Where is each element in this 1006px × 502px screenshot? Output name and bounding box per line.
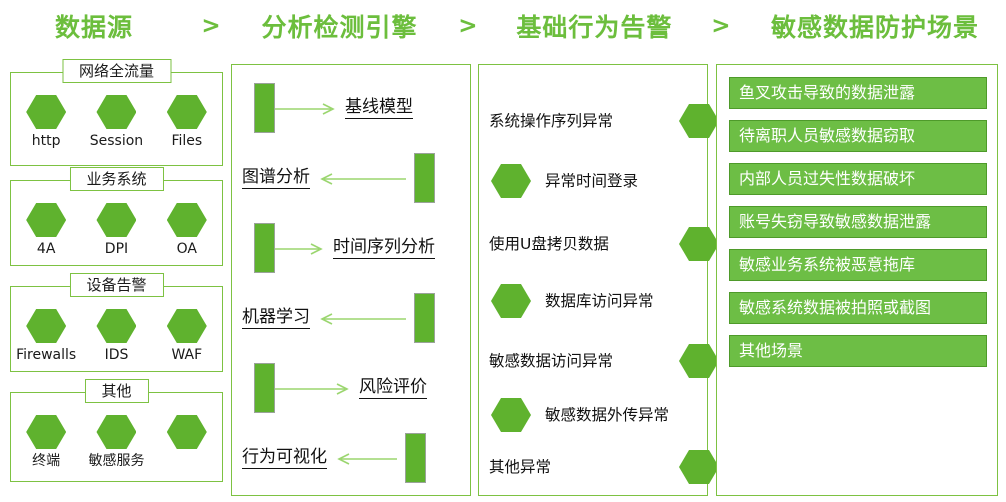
bar-icon — [254, 363, 275, 413]
arrow-right-icon — [275, 241, 327, 255]
hexagon-icon — [679, 227, 719, 261]
hexagon-icon — [491, 284, 531, 318]
scenario-button[interactable]: 内部人员过失性数据破坏 — [729, 163, 987, 195]
column-basic-alerts: 系统操作序列异常 异常时间登录 使用U盘拷贝数据 数据库访问异常 敏感数据访问异… — [478, 64, 708, 496]
alert-item-label: 数据库访问异常 — [545, 291, 654, 311]
source-item[interactable]: Firewalls — [15, 309, 77, 364]
hexagon-icon — [679, 104, 719, 138]
source-item[interactable]: IDS — [85, 309, 147, 364]
hexagon-icon — [167, 203, 207, 237]
engine-item[interactable]: 图谱分析 — [232, 147, 482, 209]
bar-icon — [414, 293, 435, 343]
bar-icon — [254, 83, 275, 133]
engine-item[interactable]: 基线模型 — [232, 77, 494, 139]
column-analysis-engine: 基线模型 图谱分析 时间序列分析 机器学习 — [231, 64, 471, 496]
source-item-list: 4A DPI OA — [11, 203, 222, 258]
source-group-title: 业务系统 — [69, 167, 163, 191]
source-item-list: Firewalls IDS WAF — [11, 309, 222, 364]
scenario-button[interactable]: 敏感业务系统被恶意拖库 — [729, 249, 987, 281]
header-title-scenarios: 敏感数据防护场景 — [744, 8, 1006, 44]
alert-item[interactable]: 系统操作序列异常 — [479, 101, 731, 141]
source-item-label: 4A — [37, 241, 55, 258]
alert-item-label: 异常时间登录 — [545, 171, 638, 191]
scenario-button[interactable]: 账号失窃导致敏感数据泄露 — [729, 206, 987, 238]
header-title-analysis-engine: 分析检测引擎 — [234, 8, 445, 44]
source-group-others[interactable]: 其他 终端 敏感服务 — [10, 392, 223, 482]
alert-item-label: 系统操作序列异常 — [489, 111, 613, 131]
header-arrow-separator-1: > — [188, 13, 234, 39]
source-item-label: http — [32, 133, 61, 150]
engine-item[interactable]: 时间序列分析 — [232, 217, 494, 279]
hexagon-icon — [491, 164, 531, 198]
scenario-list: 鱼叉攻击导致的数据泄露 待离职人员敏感数据窃取 内部人员过失性数据破坏 账号失窃… — [729, 77, 987, 378]
source-item-label: WAF — [171, 347, 202, 364]
source-item-label: Session — [90, 133, 143, 150]
hexagon-icon — [679, 450, 719, 484]
source-item[interactable]: 4A — [15, 203, 77, 258]
engine-item-label: 时间序列分析 — [333, 237, 435, 259]
column-data-sources: 网络全流量 http Session Files 业务系统 — [10, 64, 223, 496]
hexagon-icon — [96, 95, 136, 129]
source-item-label: Firewalls — [16, 347, 76, 364]
bar-icon — [405, 433, 426, 483]
column-protection-scenarios: 鱼叉攻击导致的数据泄露 待离职人员敏感数据窃取 内部人员过失性数据破坏 账号失窃… — [716, 64, 998, 496]
engine-item[interactable]: 风险评价 — [232, 357, 494, 419]
hexagon-icon — [679, 344, 719, 378]
alert-item-label: 使用U盘拷贝数据 — [489, 234, 609, 254]
engine-item[interactable]: 机器学习 — [232, 287, 482, 349]
arrow-left-icon — [335, 451, 397, 465]
header-arrow-separator-2: > — [445, 13, 491, 39]
hexagon-icon — [491, 398, 531, 432]
source-item[interactable]: 敏感服务 — [85, 415, 147, 470]
alert-item[interactable]: 使用U盘拷贝数据 — [479, 221, 731, 267]
alert-item-label: 其他异常 — [489, 457, 551, 477]
engine-item-label: 图谱分析 — [242, 167, 310, 189]
source-group-device-alerts[interactable]: 设备告警 Firewalls IDS WAF — [10, 286, 223, 372]
source-group-title: 其他 — [84, 379, 148, 403]
scenario-button[interactable]: 鱼叉攻击导致的数据泄露 — [729, 77, 987, 109]
diagram-root: 数据源 > 分析检测引擎 > 基础行为告警 > 敏感数据防护场景 网络全流量 h… — [0, 0, 1006, 502]
source-item-list: 终端 敏感服务 — [11, 415, 222, 470]
engine-item-label: 行为可视化 — [242, 447, 327, 469]
source-group-business-system[interactable]: 业务系统 4A DPI OA — [10, 180, 223, 266]
arrow-left-icon — [318, 311, 406, 325]
engine-item[interactable]: 行为可视化 — [232, 427, 482, 489]
hexagon-icon — [96, 309, 136, 343]
source-item[interactable] — [156, 415, 218, 470]
source-item-label: OA — [177, 241, 197, 258]
hexagon-icon — [26, 309, 66, 343]
bar-icon — [254, 223, 275, 273]
hexagon-icon — [167, 309, 207, 343]
header-title-basic-alerts: 基础行为告警 — [491, 8, 698, 44]
source-group-title: 网络全流量 — [62, 59, 171, 83]
engine-item-label: 风险评价 — [359, 377, 427, 399]
source-item[interactable]: Session — [85, 95, 147, 150]
hexagon-icon — [167, 415, 207, 449]
alert-item[interactable]: 数据库访问异常 — [479, 281, 721, 321]
source-item[interactable]: http — [15, 95, 77, 150]
scenario-button[interactable]: 其他场景 — [729, 335, 987, 367]
source-item-list: http Session Files — [11, 95, 222, 150]
hexagon-icon — [26, 203, 66, 237]
source-item-label: 敏感服务 — [88, 453, 144, 470]
alert-item[interactable]: 其他异常 — [479, 447, 731, 487]
hexagon-icon — [26, 415, 66, 449]
hexagon-icon — [96, 203, 136, 237]
bar-icon — [414, 153, 435, 203]
arrow-left-icon — [318, 171, 406, 185]
alert-item-label: 敏感数据外传异常 — [545, 405, 669, 425]
alert-item[interactable]: 敏感数据外传异常 — [479, 395, 721, 435]
alert-item[interactable]: 敏感数据访问异常 — [479, 341, 731, 381]
source-item-label: Files — [171, 133, 202, 150]
scenario-button[interactable]: 敏感系统数据被拍照或截图 — [729, 292, 987, 324]
header-arrow-separator-3: > — [698, 13, 744, 39]
source-group-network-traffic[interactable]: 网络全流量 http Session Files — [10, 72, 223, 166]
source-item[interactable]: DPI — [85, 203, 147, 258]
hexagon-icon — [26, 95, 66, 129]
alert-item-label: 敏感数据访问异常 — [489, 351, 613, 371]
alert-item[interactable]: 异常时间登录 — [479, 161, 721, 201]
source-item[interactable]: OA — [156, 203, 218, 258]
source-item-label: IDS — [105, 347, 129, 364]
scenario-button[interactable]: 待离职人员敏感数据窃取 — [729, 120, 987, 152]
hexagon-icon — [96, 415, 136, 449]
source-item[interactable]: Files — [156, 95, 218, 150]
engine-item-label: 基线模型 — [345, 97, 413, 119]
source-item[interactable]: WAF — [156, 309, 218, 364]
source-item-label: 终端 — [32, 453, 60, 470]
engine-item-label: 机器学习 — [242, 307, 310, 329]
source-item[interactable]: 终端 — [15, 415, 77, 470]
arrow-right-icon — [275, 381, 353, 395]
header-title-data-source: 数据源 — [0, 8, 188, 44]
source-group-title: 设备告警 — [69, 273, 163, 297]
hexagon-icon — [167, 95, 207, 129]
arrow-right-icon — [275, 101, 339, 115]
diagram-header: 数据源 > 分析检测引擎 > 基础行为告警 > 敏感数据防护场景 — [0, 0, 1006, 52]
source-item-label: DPI — [105, 241, 128, 258]
